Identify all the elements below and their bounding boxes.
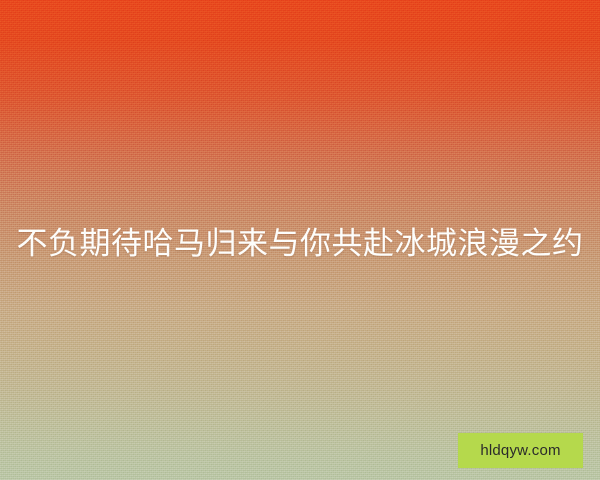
watermark-badge: hldqyw.com — [458, 433, 583, 468]
watermark-label: hldqyw.com — [480, 442, 560, 459]
banner-image: 不负期待哈马归来与你共赴冰城浪漫之约 hldqyw.com — [0, 0, 600, 480]
background-gradient — [0, 0, 600, 480]
